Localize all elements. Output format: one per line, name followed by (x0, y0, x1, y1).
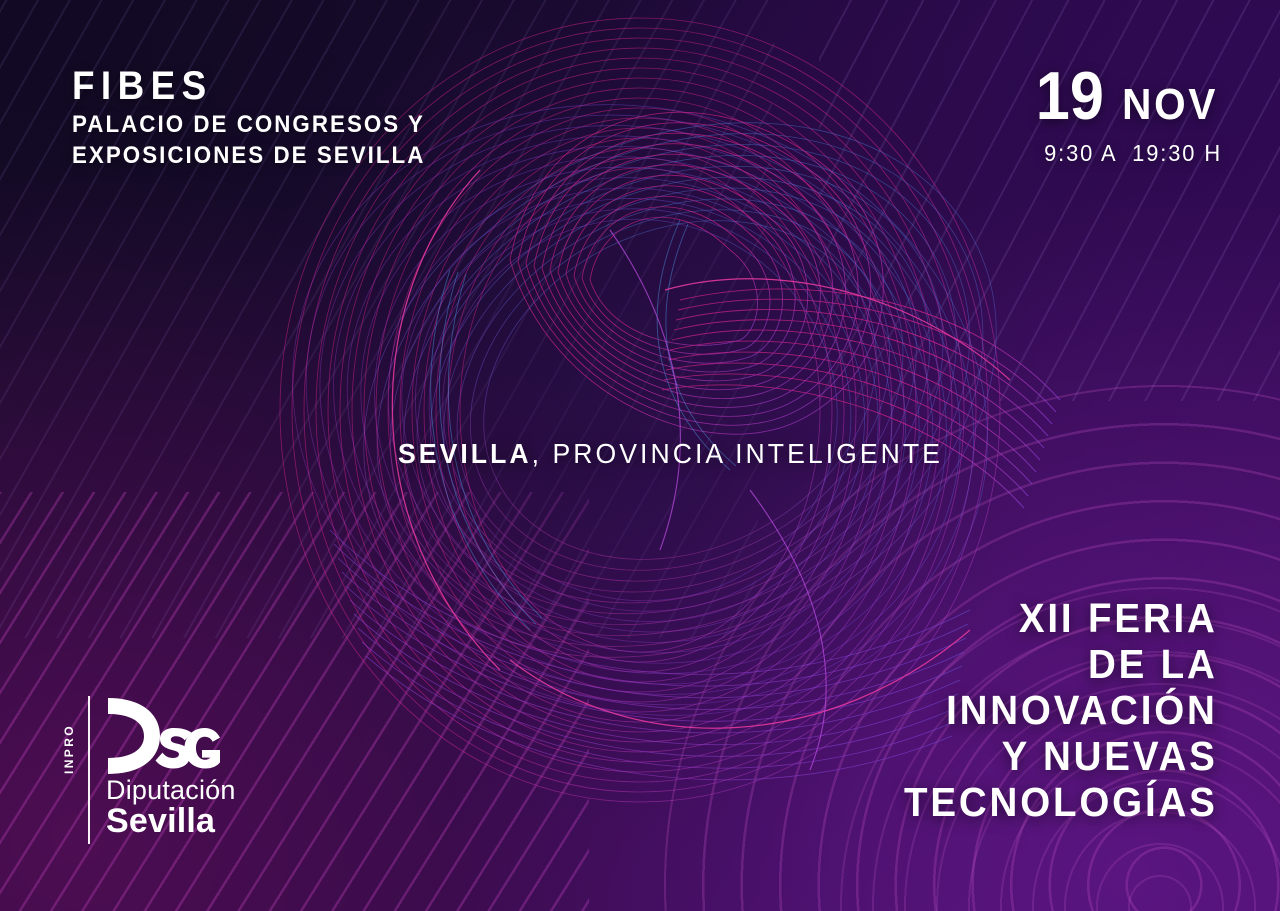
poster-canvas: FIBES PALACIO DE CONGRESOS Y EXPOSICIONE… (0, 0, 1280, 911)
inpro-vertical-label: INPRO (62, 698, 76, 774)
event-title-line: XII FERIA (904, 596, 1218, 642)
diputacion-logo: Diputación Sevilla (104, 694, 236, 846)
logo-divider (88, 696, 90, 844)
event-title-line: DE LA (904, 642, 1218, 688)
venue-subtitle-line-2: EXPOSICIONES DE SEVILLA (72, 141, 425, 172)
venue-name: FIBES (72, 66, 422, 106)
tagline-bold: SEVILLA (398, 438, 532, 469)
logo-word-sevilla: Sevilla (106, 804, 236, 839)
event-title-line: INNOVACIÓN (904, 688, 1218, 734)
date-day: 19 (1036, 62, 1104, 130)
logo-word-diputacion: Diputación (106, 776, 236, 804)
date-time-range: 9:30 A 19:30 H (1042, 140, 1223, 167)
event-title-block: XII FERIA DE LA INNOVACIÓN Y NUEVAS TECN… (884, 596, 1218, 826)
tagline-rest: , PROVINCIA INTELIGENTE (532, 438, 943, 469)
dse-monogram-icon (102, 694, 220, 778)
event-title-line: TECNOLOGÍAS (904, 780, 1218, 826)
date-month: NOV (1122, 83, 1218, 127)
venue-subtitle-line-1: PALACIO DE CONGRESOS Y (72, 110, 425, 141)
date-block: 19 NOV 9:30 A 19:30 H (1032, 62, 1222, 167)
venue-block: FIBES PALACIO DE CONGRESOS Y EXPOSICIONE… (72, 66, 452, 171)
tagline: SEVILLA, PROVINCIA INTELIGENTE (398, 438, 943, 470)
logo-block: INPRO Diputación Sevilla (62, 694, 236, 846)
date-main: 19 NOV (1032, 62, 1222, 130)
event-title-line: Y NUEVAS (904, 734, 1218, 780)
